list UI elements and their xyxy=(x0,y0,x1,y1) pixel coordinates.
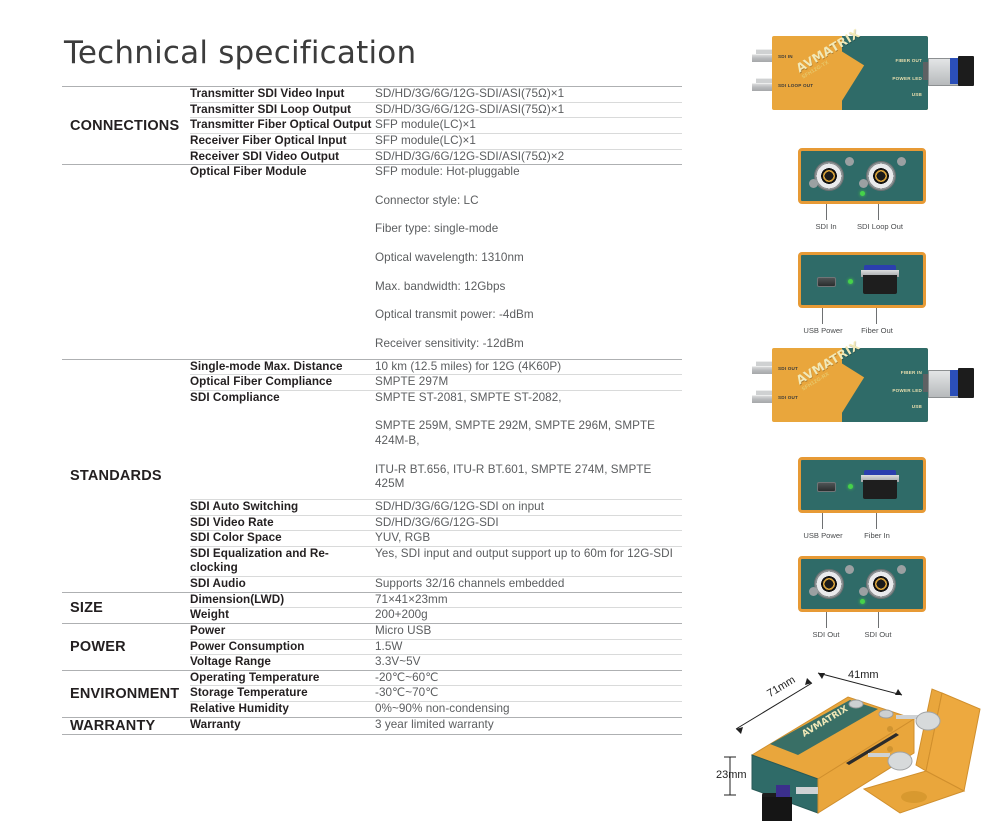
device-teal-face xyxy=(842,36,928,110)
spec-label: Transmitter Fiber Optical Output xyxy=(190,118,375,134)
panel-screw xyxy=(897,565,906,574)
group-rows-standards: Single-mode Max. Distance 10 km (12.5 mi… xyxy=(190,359,682,592)
rear-panel xyxy=(798,457,926,513)
figure-transmitter-front-panel: SDI In SDI Loop Out xyxy=(798,148,926,204)
spec-value: SMPTE 297M xyxy=(375,375,682,391)
leader-line xyxy=(878,204,879,220)
spec-group-size: SIZE Dimension(LWD) 71×41×23mm Weight 20… xyxy=(62,592,682,623)
leader-line xyxy=(822,308,823,324)
group-rows-environment: Operating Temperature -20℃~60℃ Storage T… xyxy=(190,670,682,717)
leader-line xyxy=(826,204,827,220)
specification-table: CONNECTIONS Transmitter SDI Video Input … xyxy=(62,86,682,735)
caption-sdi-in: SDI In xyxy=(800,222,852,231)
group-name-environment: ENVIRONMENT xyxy=(62,670,190,717)
spec-value-line: SFP module: Hot-pluggable xyxy=(375,165,682,180)
leader-line xyxy=(822,513,823,529)
spec-value: Yes, SDI input and output support up to … xyxy=(375,546,682,576)
label-power-led: POWER LED xyxy=(892,388,922,393)
spec-value-line: Connector style: LC xyxy=(375,194,682,209)
figure-dimension-drawing: AVMATRIX xyxy=(700,645,1000,830)
spec-value-list: SMPTE ST-2081, SMPTE ST-2082, SMPTE 259M… xyxy=(375,390,682,499)
group-name-warranty: WARRANTY xyxy=(62,717,190,734)
spec-value-line: Receiver sensitivity: -12dBm xyxy=(375,337,682,352)
panel-screw xyxy=(897,157,906,166)
fiber-module-icon xyxy=(861,470,899,500)
table-row: SDI Color Space YUV, RGB xyxy=(190,531,682,547)
spec-value: SD/HD/3G/6G/12G-SDI/ASI(75Ω)×1 xyxy=(375,102,682,118)
caption-usb-power: USB Power xyxy=(794,326,852,335)
bnc-connector-sdi-out-left xyxy=(815,570,843,598)
status-led-icon xyxy=(848,279,853,284)
table-bottom-rule xyxy=(62,734,682,735)
table-row: Weight 200+200g xyxy=(190,608,682,623)
table-row: Single-mode Max. Distance 10 km (12.5 mi… xyxy=(190,360,682,375)
bnc-connector-sdi-in xyxy=(815,162,843,190)
spec-group-optical-fiber-module: Optical Fiber Module SFP module: Hot-plu… xyxy=(62,165,682,359)
table-row: Transmitter SDI Video Input SD/HD/3G/6G/… xyxy=(190,87,682,102)
spec-value-line: Optical wavelength: 1310nm xyxy=(375,251,682,266)
spec-value: YUV, RGB xyxy=(375,531,682,547)
spec-value: 10 km (12.5 miles) for 12G (4K60P) xyxy=(375,360,682,375)
panel-screw xyxy=(859,587,868,596)
panel-screw xyxy=(845,565,854,574)
group-rows-warranty: Warranty 3 year limited warranty xyxy=(190,717,682,734)
table-row: Storage Temperature -30℃~70℃ xyxy=(190,686,682,702)
spec-value: Supports 32/16 channels embedded xyxy=(375,577,682,592)
spec-label: Operating Temperature xyxy=(190,671,375,686)
group-name-power: POWER xyxy=(62,623,190,670)
label-sdi-out-top: SDI OUT xyxy=(778,366,798,371)
table-row: Receiver Fiber Optical Input SFP module(… xyxy=(190,133,682,149)
spec-group-standards: STANDARDS Single-mode Max. Distance 10 k… xyxy=(62,359,682,592)
spec-label: Weight xyxy=(190,608,375,623)
leader-line xyxy=(878,612,879,628)
figure-receiver-front-panel: SDI Out SDI Out xyxy=(798,556,926,612)
spec-label: SDI Compliance xyxy=(190,390,375,499)
caption-sdi-out-right: SDI Out xyxy=(854,630,902,639)
thumb-screw xyxy=(888,752,912,770)
spec-value-line: SMPTE ST-2081, SMPTE ST-2082, xyxy=(375,391,682,406)
table-row: SDI Equalization and Re-clocking Yes, SD… xyxy=(190,546,682,576)
spec-label: Power xyxy=(190,624,375,639)
panel-screw xyxy=(809,179,818,188)
caption-sdi-loop-out: SDI Loop Out xyxy=(850,222,910,231)
dimension-height: 23mm xyxy=(716,769,747,781)
table-row: Receiver SDI Video Output SD/HD/3G/6G/12… xyxy=(190,149,682,164)
receiver-device: AVMATRIX SFH12G-RX SDI OUT SDI OUT FIBER… xyxy=(752,348,928,422)
spec-value: SFP module(LC)×1 xyxy=(375,133,682,149)
figure-transmitter-rear-panel: USB Power Fiber Out xyxy=(798,252,926,308)
table-row: Warranty 3 year limited warranty xyxy=(190,718,682,733)
table-row: Power Consumption 1.5W xyxy=(190,639,682,655)
front-panel xyxy=(798,148,926,204)
device-shell: AVMATRIX SFH12G-RX SDI OUT SDI OUT FIBER… xyxy=(772,348,928,422)
group-name-connections: CONNECTIONS xyxy=(62,87,190,165)
label-sdi-out-bottom: SDI OUT xyxy=(778,395,798,400)
spec-group-environment: ENVIRONMENT Operating Temperature -20℃~6… xyxy=(62,670,682,717)
group-rows-optical-fiber-module: Optical Fiber Module SFP module: Hot-plu… xyxy=(190,165,682,359)
specification-section: Technical specification CONNECTIONS Tran… xyxy=(62,36,682,735)
micro-usb-port-icon xyxy=(817,277,836,287)
bnc-connector-sdi-loop-out xyxy=(867,162,895,190)
device-teal-face xyxy=(842,348,928,422)
fiber-connector-black xyxy=(762,797,792,821)
spec-value: 200+200g xyxy=(375,608,682,623)
caption-usb-power: USB Power xyxy=(794,531,852,540)
screw-shaft xyxy=(868,753,890,757)
spec-label: Transmitter SDI Loop Output xyxy=(190,102,375,118)
label-sdi-loop-out: SDI LOOP OUT xyxy=(778,83,813,88)
table-row: Voltage Range 3.3V~5V xyxy=(190,655,682,670)
micro-usb-port-icon xyxy=(817,482,836,492)
spec-value: SD/HD/3G/6G/12G-SDI/ASI(75Ω)×1 xyxy=(375,87,682,102)
spec-value: -30℃~70℃ xyxy=(375,686,682,702)
spec-value-line: SMPTE 259M, SMPTE 292M, SMPTE 296M, SMPT… xyxy=(375,419,682,448)
leader-line xyxy=(826,612,827,628)
spec-value-list: SFP module: Hot-pluggable Connector styl… xyxy=(375,165,682,358)
spec-value-line: Optical transmit power: -4dBm xyxy=(375,308,682,323)
label-fiber-in: FIBER IN xyxy=(901,370,922,375)
group-rows-power: Power Micro USB Power Consumption 1.5W V… xyxy=(190,623,682,670)
spec-value: 71×41×23mm xyxy=(375,593,682,608)
spec-value: 0%~90% non-condensing xyxy=(375,702,682,717)
figure-receiver-iso: AVMATRIX SFH12G-RX SDI OUT SDI OUT FIBER… xyxy=(752,348,928,422)
spec-value: SD/HD/3G/6G/12G-SDI on input xyxy=(375,499,682,515)
table-row: Transmitter SDI Loop Output SD/HD/3G/6G/… xyxy=(190,102,682,118)
screw-hole xyxy=(887,726,893,732)
status-led-icon xyxy=(860,599,865,604)
spec-value: 1.5W xyxy=(375,639,682,655)
product-figures: AVMATRIX SFH12G-TX SDI IN SDI LOOP OUT F… xyxy=(700,0,1000,833)
screw-hole xyxy=(887,746,893,752)
table-row: Transmitter Fiber Optical Output SFP mod… xyxy=(190,118,682,134)
status-led-icon xyxy=(848,484,853,489)
specification-table-body: CONNECTIONS Transmitter SDI Video Input … xyxy=(62,87,682,735)
page-title: Technical specification xyxy=(64,36,682,70)
technical-specification-page: Technical specification CONNECTIONS Tran… xyxy=(0,0,1000,833)
caption-fiber-out: Fiber Out xyxy=(850,326,904,335)
table-row: Relative Humidity 0%~90% non-condensing xyxy=(190,702,682,717)
spec-label: Receiver Fiber Optical Input xyxy=(190,133,375,149)
spec-group-power: POWER Power Micro USB Power Consumption … xyxy=(62,623,682,670)
spec-label: SDI Video Rate xyxy=(190,515,375,531)
group-name-blank xyxy=(62,165,190,359)
spec-label: Single-mode Max. Distance xyxy=(190,360,375,375)
spec-group-connections: CONNECTIONS Transmitter SDI Video Input … xyxy=(62,87,682,165)
panel-screw xyxy=(859,179,868,188)
label-sdi-in: SDI IN xyxy=(778,54,793,59)
bracket-slot xyxy=(901,791,927,803)
transmitter-device: AVMATRIX SFH12G-TX SDI IN SDI LOOP OUT F… xyxy=(752,36,928,110)
thumb-screw xyxy=(916,712,940,730)
spec-label: Optical Fiber Compliance xyxy=(190,375,375,391)
spec-value: -20℃~60℃ xyxy=(375,671,682,686)
table-row: SDI Video Rate SD/HD/3G/6G/12G-SDI xyxy=(190,515,682,531)
group-rows-size: Dimension(LWD) 71×41×23mm Weight 200+200… xyxy=(190,592,682,623)
spec-group-warranty: WARRANTY Warranty 3 year limited warrant… xyxy=(62,717,682,734)
rear-panel xyxy=(798,252,926,308)
bnc-connector-sdi-out-right xyxy=(867,570,895,598)
dimension-width: 41mm xyxy=(848,669,879,681)
spec-value: 3 year limited warranty xyxy=(375,718,682,733)
panel-screw xyxy=(809,587,818,596)
caption-sdi-out-left: SDI Out xyxy=(802,630,850,639)
spec-value: Micro USB xyxy=(375,624,682,639)
table-row: SDI Auto Switching SD/HD/3G/6G/12G-SDI o… xyxy=(190,499,682,515)
device-shell: AVMATRIX SFH12G-TX SDI IN SDI LOOP OUT F… xyxy=(772,36,928,110)
spec-value: 3.3V~5V xyxy=(375,655,682,670)
group-rows-connections: Transmitter SDI Video Input SD/HD/3G/6G/… xyxy=(190,87,682,165)
spec-label: SDI Equalization and Re-clocking xyxy=(190,546,375,576)
sfp-module-icon xyxy=(928,368,980,398)
spec-value-line: ITU-R BT.656, ITU-R BT.601, SMPTE 274M, … xyxy=(375,463,682,492)
spec-value: SD/HD/3G/6G/12G-SDI xyxy=(375,515,682,531)
status-led-icon xyxy=(860,191,865,196)
table-row: Optical Fiber Compliance SMPTE 297M xyxy=(190,375,682,391)
table-row: Operating Temperature -20℃~60℃ xyxy=(190,671,682,686)
table-row: Optical Fiber Module SFP module: Hot-plu… xyxy=(190,165,682,358)
spec-value: SD/HD/3G/6G/12G-SDI/ASI(75Ω)×2 xyxy=(375,149,682,164)
spec-value: SFP module(LC)×1 xyxy=(375,118,682,134)
table-row: SDI Audio Supports 32/16 channels embedd… xyxy=(190,577,682,592)
figure-transmitter-iso: AVMATRIX SFH12G-TX SDI IN SDI LOOP OUT F… xyxy=(752,36,928,110)
label-fiber-out: FIBER OUT xyxy=(895,58,922,63)
sfp-module-icon xyxy=(928,56,980,86)
label-usb: USB xyxy=(912,92,922,97)
label-usb: USB xyxy=(912,404,922,409)
spec-label: Optical Fiber Module xyxy=(190,165,375,358)
spec-label: Power Consumption xyxy=(190,639,375,655)
group-name-size: SIZE xyxy=(62,592,190,623)
leader-line xyxy=(876,513,877,529)
spec-value-line: Max. bandwidth: 12Gbps xyxy=(375,280,682,295)
caption-fiber-in: Fiber In xyxy=(852,531,902,540)
pin-header xyxy=(796,787,818,794)
spec-value-line: Fiber type: single-mode xyxy=(375,222,682,237)
spec-label: SDI Color Space xyxy=(190,531,375,547)
thumb-screw xyxy=(879,710,893,718)
panel-screw xyxy=(845,157,854,166)
front-panel xyxy=(798,556,926,612)
screw-shaft xyxy=(896,715,918,719)
spec-label: Dimension(LWD) xyxy=(190,593,375,608)
thumb-screw xyxy=(849,700,863,708)
label-power-led: POWER LED xyxy=(892,76,922,81)
spec-label: Relative Humidity xyxy=(190,702,375,717)
spec-label: Voltage Range xyxy=(190,655,375,670)
leader-line xyxy=(876,308,877,324)
table-row: SDI Compliance SMPTE ST-2081, SMPTE ST-2… xyxy=(190,390,682,499)
figure-receiver-rear-panel: USB Power Fiber In xyxy=(798,457,926,513)
spec-label: Warranty xyxy=(190,718,375,733)
spec-label: Receiver SDI Video Output xyxy=(190,149,375,164)
fiber-module-icon xyxy=(861,265,899,295)
spec-label: Transmitter SDI Video Input xyxy=(190,87,375,102)
spec-label: Storage Temperature xyxy=(190,686,375,702)
group-name-standards: STANDARDS xyxy=(62,359,190,592)
table-row: Dimension(LWD) 71×41×23mm xyxy=(190,593,682,608)
spec-label: SDI Auto Switching xyxy=(190,499,375,515)
spec-label: SDI Audio xyxy=(190,577,375,592)
table-row: Power Micro USB xyxy=(190,624,682,639)
